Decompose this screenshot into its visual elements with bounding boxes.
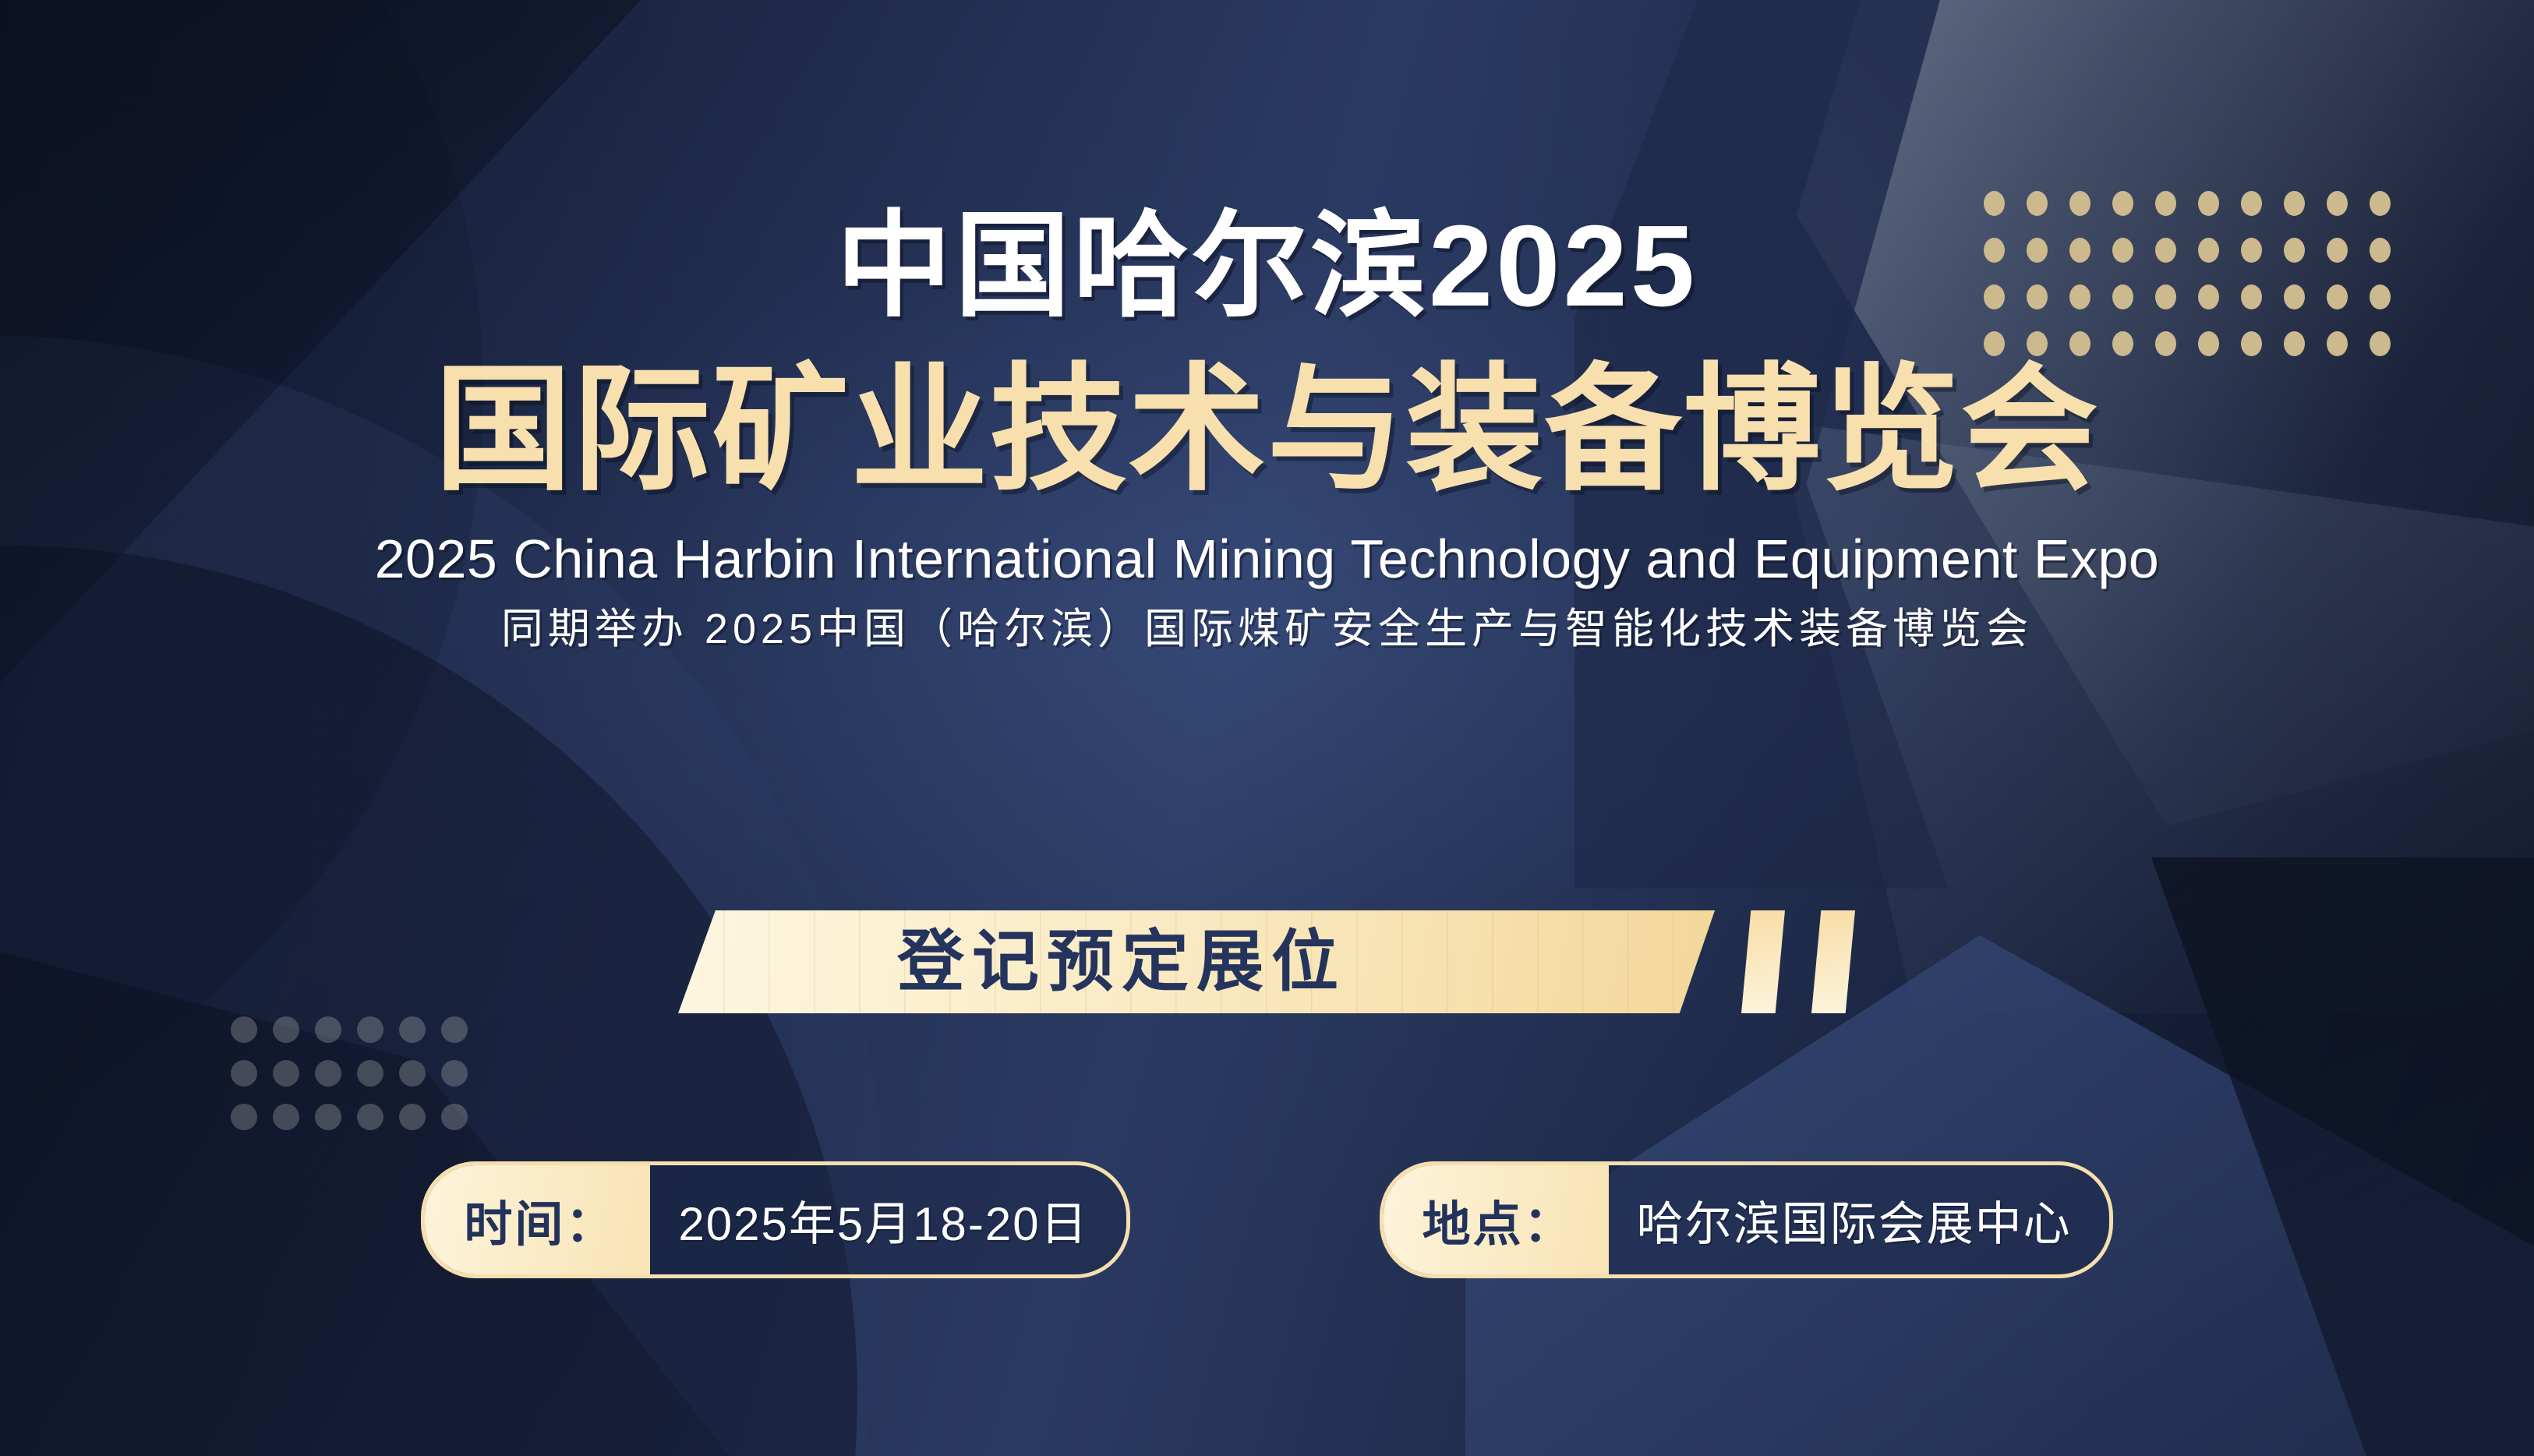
cta-stripe-1 <box>1741 910 1785 1013</box>
headline-primary-cn: 中国哈尔滨2025 <box>836 209 1698 324</box>
date-value: 2025年5月18-20日 <box>650 1165 1126 1274</box>
cta-plate[interactable]: 登记预定展位 <box>678 910 1715 1013</box>
expo-banner: 中国哈尔滨2025 国际矿业技术与装备博览会 2025 China Harbin… <box>0 0 2534 1456</box>
headline-english: 2025 China Harbin International Mining T… <box>375 532 2160 586</box>
venue-value: 哈尔滨国际会展中心 <box>1609 1165 2109 1274</box>
date-pill: 时间： 2025年5月18-20日 <box>421 1161 1129 1278</box>
headline-concurrent-event-cn: 同期举办 2025中国（哈尔滨）国际煤矿安全生产与智能化技术装备博览会 <box>501 608 2033 650</box>
info-pill-row: 时间： 2025年5月18-20日 地点： 哈尔滨国际会展中心 <box>0 1161 2534 1278</box>
cta-label: 登记预定展位 <box>897 928 1346 995</box>
cta-banner[interactable]: 登记预定展位 <box>678 910 1855 1013</box>
cta-stripe-2 <box>1811 910 1855 1013</box>
venue-label: 地点： <box>1384 1165 1609 1274</box>
date-label: 时间： <box>425 1165 650 1274</box>
venue-pill: 地点： 哈尔滨国际会展中心 <box>1380 1161 2113 1278</box>
headline-secondary-cn: 国际矿业技术与装备博览会 <box>434 362 2099 499</box>
